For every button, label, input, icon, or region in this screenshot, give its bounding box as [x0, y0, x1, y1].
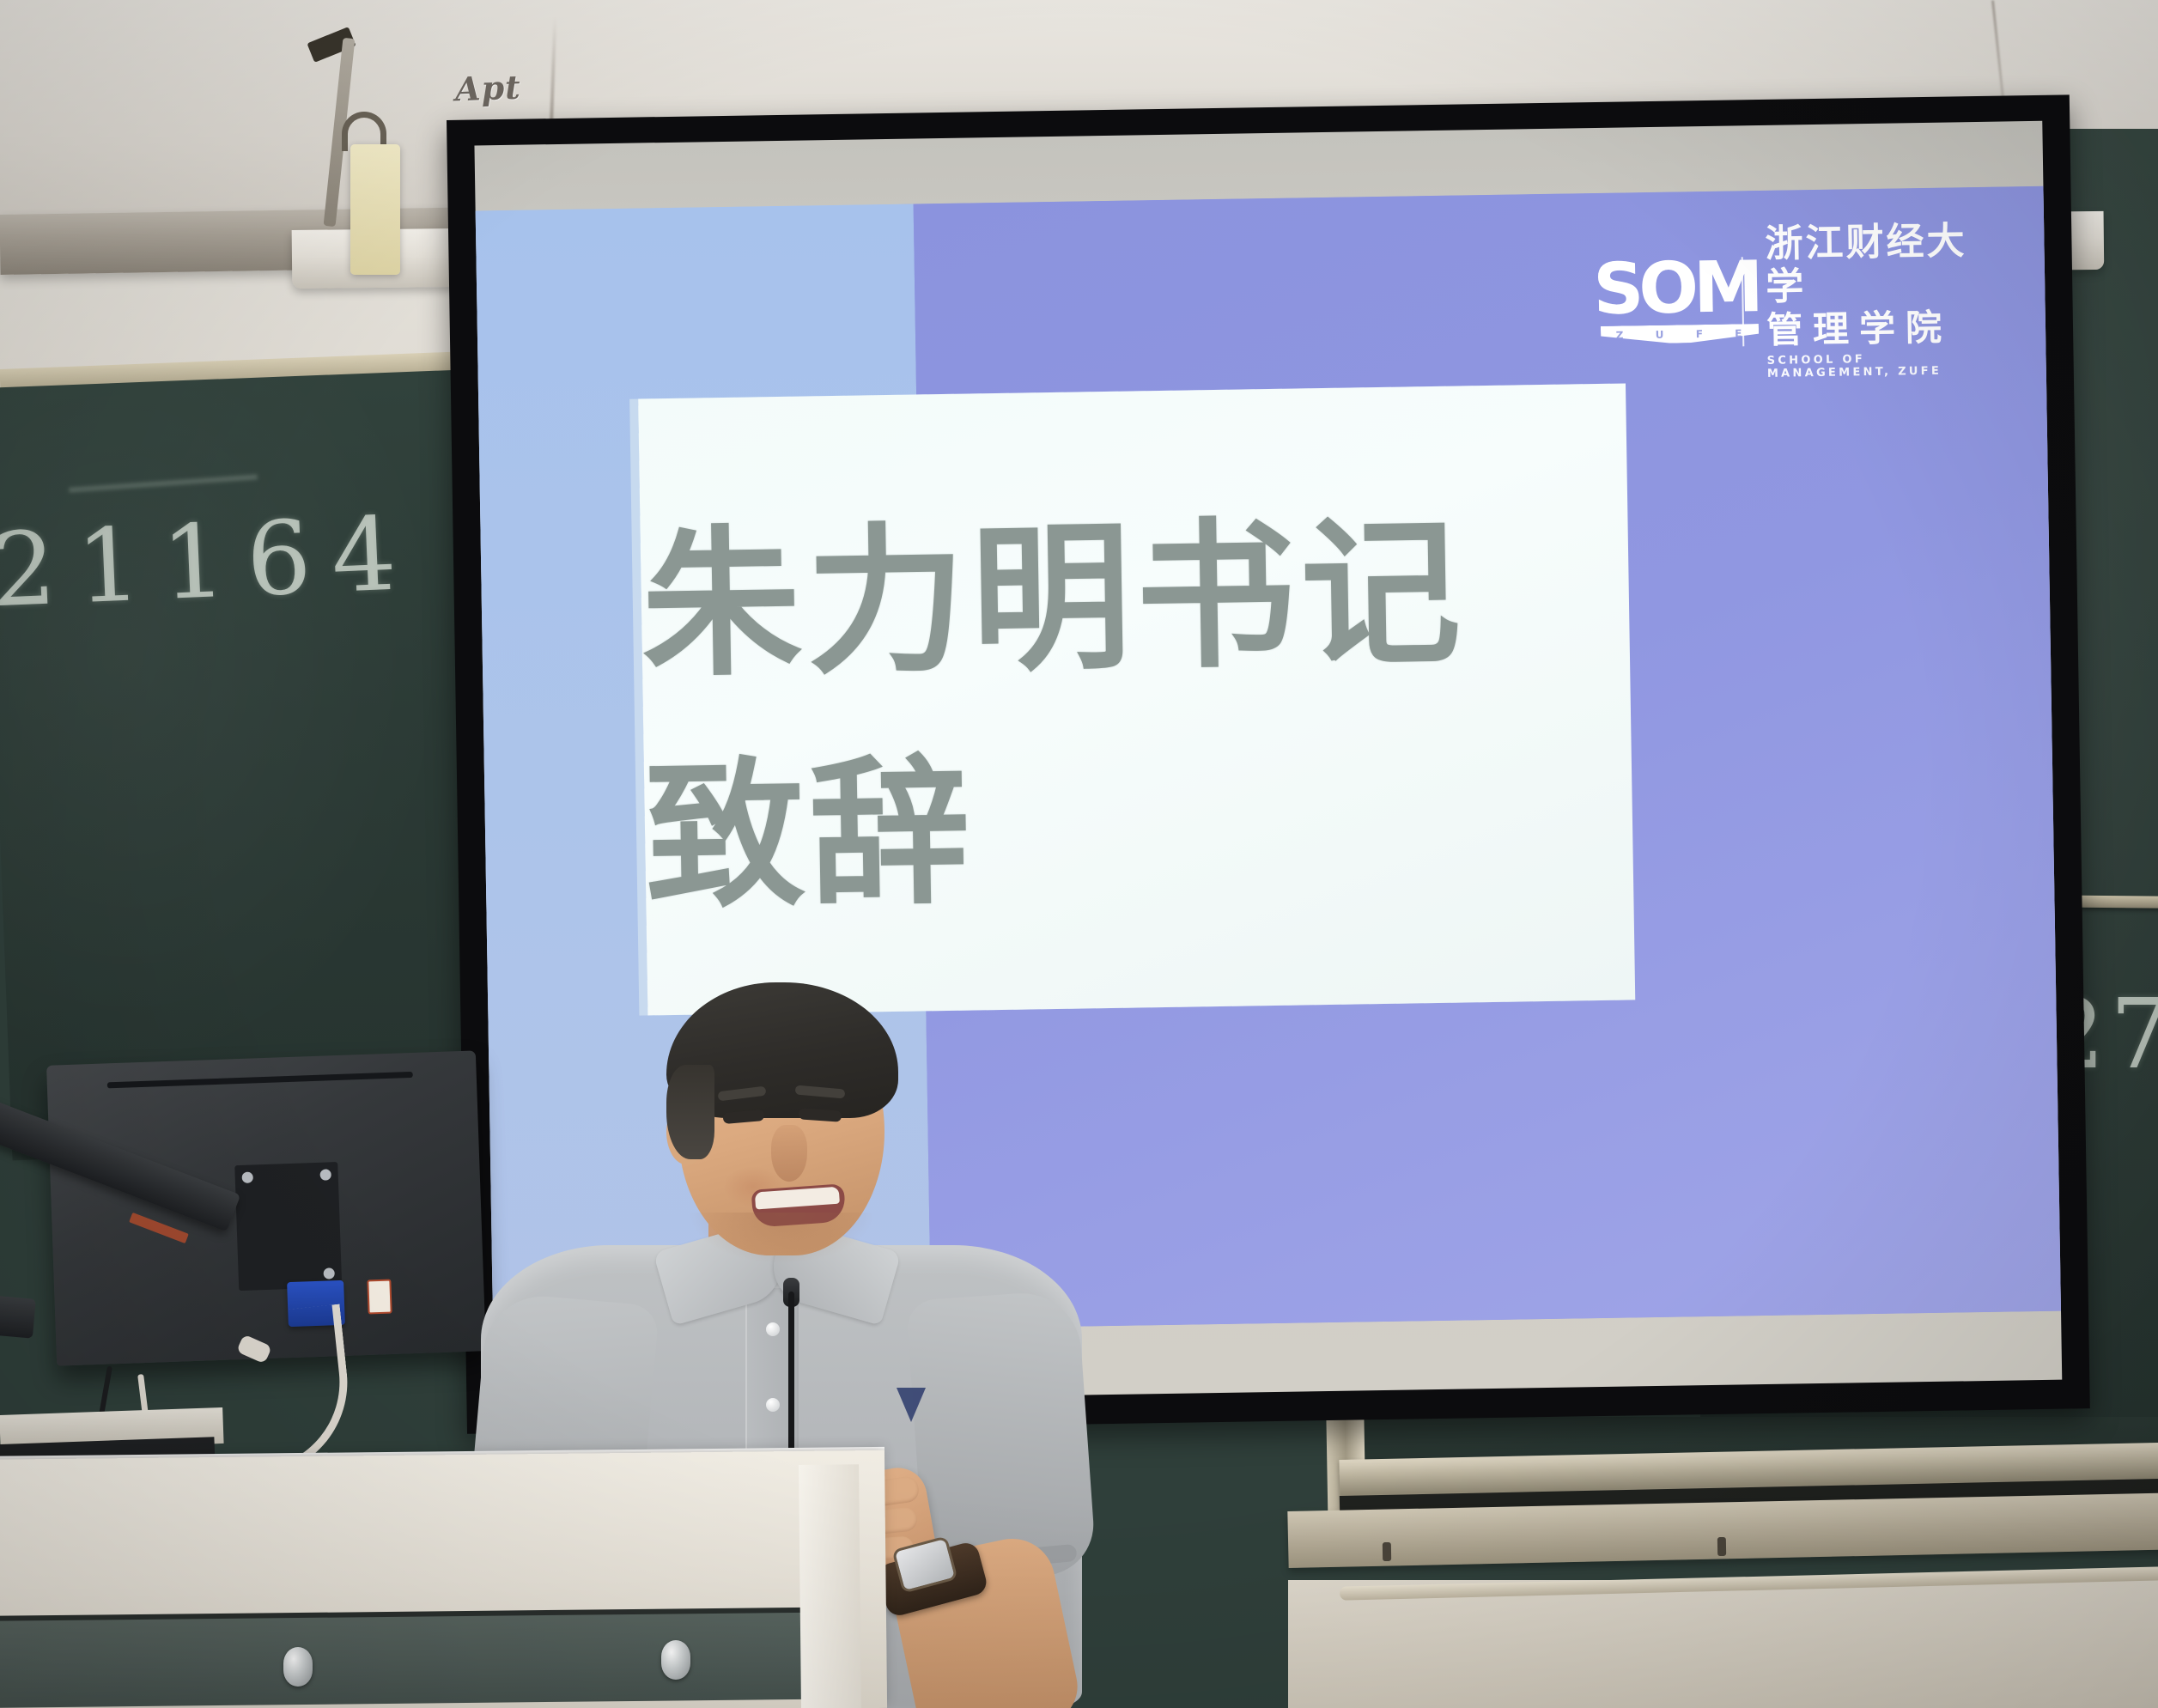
zufe-letter: F — [1696, 328, 1705, 340]
podium-knob-icon[interactable] — [661, 1640, 690, 1680]
tray-screw-icon — [1383, 1542, 1391, 1561]
logo-text-block: 浙江财经大学 管理学院 SCHOOL OF MANAGEMENT, ZUFE — [1765, 220, 1973, 380]
podium-knob-icon[interactable] — [283, 1647, 313, 1687]
jaw-shadow — [687, 1213, 876, 1264]
tray-screw-icon — [1717, 1537, 1726, 1556]
zufe-book-ribbon: Z U F E — [1601, 324, 1759, 344]
monitor-vesa-plate — [234, 1162, 342, 1291]
chalk-text-left: 21164 — [0, 494, 419, 630]
podium-front-panel — [0, 1613, 825, 1708]
shirt-button-icon — [766, 1398, 780, 1412]
monitor-vent — [107, 1072, 413, 1088]
podium-right-post — [799, 1464, 861, 1708]
logo-school-name-en: SCHOOL OF MANAGEMENT, ZUFE — [1767, 351, 1973, 380]
slide-title: 朱力明书记致辞 — [638, 383, 1635, 1015]
som-logo-mark: SOM Z U F E — [1593, 252, 1721, 354]
asset-sticker — [367, 1279, 392, 1315]
classroom-photo: 21164 2768 Apt SOM Z — [0, 0, 2158, 1708]
hair-sideburn — [666, 1065, 714, 1159]
screw-icon — [242, 1172, 253, 1183]
screen-brand-logo: Apt — [454, 68, 521, 109]
screen-left-endcap — [350, 144, 400, 275]
logo-school-name: 管理学院 — [1766, 306, 1973, 352]
screw-icon — [323, 1267, 334, 1279]
som-wordmark: SOM — [1593, 252, 1720, 326]
teeth — [755, 1187, 840, 1210]
slide-content-panel: 朱力明书记致辞 — [638, 383, 1635, 1015]
school-logo: SOM Z U F E 浙江财经大学 管理学院 SCHOOL OF MANAGE… — [1593, 242, 1973, 360]
monitor-arm-lower-segment[interactable] — [0, 1291, 36, 1338]
shirt-button-icon — [766, 1322, 780, 1336]
zufe-letter: Z — [1616, 329, 1626, 341]
lower-wall-right — [1288, 1580, 2158, 1708]
screw-icon — [319, 1169, 331, 1180]
zufe-letter: U — [1656, 328, 1666, 340]
logo-university-name: 浙江财经大学 — [1765, 220, 1971, 309]
